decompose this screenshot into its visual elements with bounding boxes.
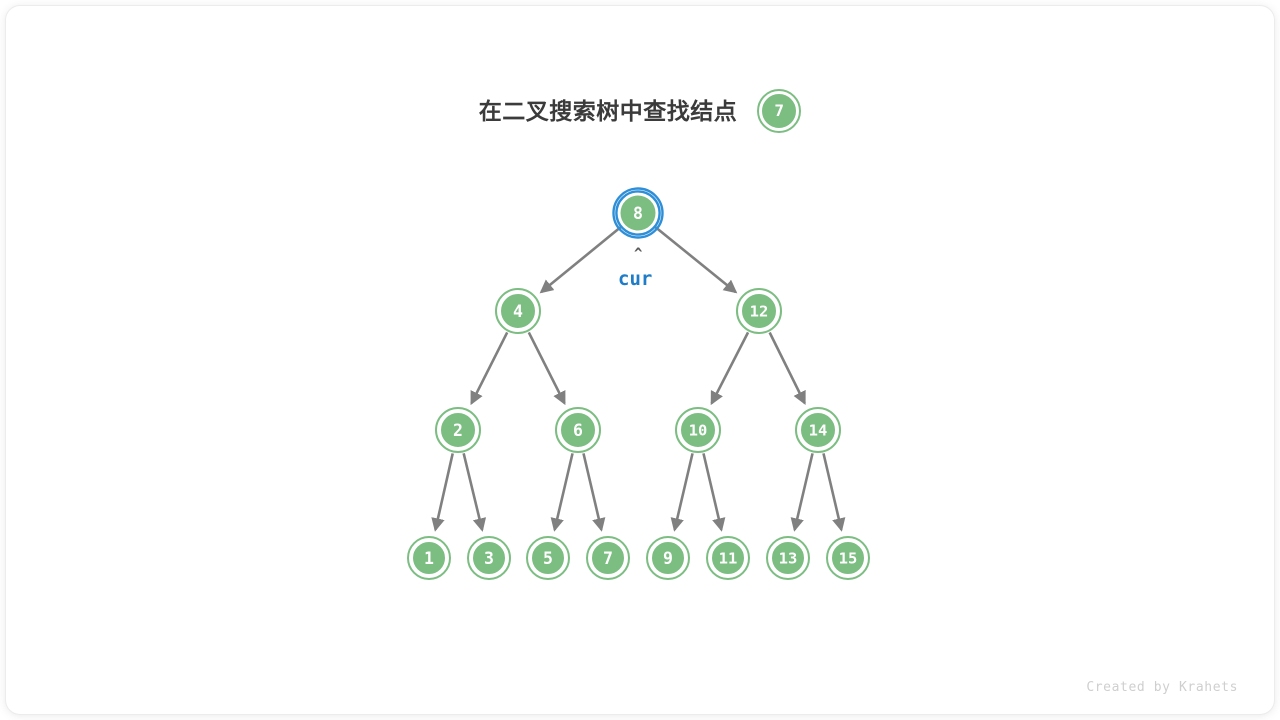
node-value-label: 5	[543, 549, 553, 568]
cur-pointer-label: cur	[618, 270, 652, 289]
tree-node-3[interactable]: 3	[468, 537, 510, 579]
tree-edge	[823, 453, 841, 529]
tree-node-5[interactable]: 5	[527, 537, 569, 579]
tree-node-12[interactable]: 12	[737, 289, 781, 333]
tree-edge	[472, 332, 508, 403]
tree-edge	[464, 453, 483, 529]
tree-node-8[interactable]: 8	[614, 189, 663, 238]
node-value-label: 3	[484, 549, 494, 568]
node-value-label: 13	[779, 550, 798, 568]
node-value-label: 2	[453, 421, 463, 440]
node-value-label: 15	[839, 550, 858, 568]
tree-edge	[703, 453, 721, 529]
tree-edge	[712, 332, 748, 403]
tree-edge	[795, 453, 813, 529]
tree-edge	[435, 453, 452, 529]
footer-credit: Created by Krahets	[1086, 681, 1238, 694]
tree-node-15[interactable]: 15	[827, 537, 869, 579]
node-value-label: 12	[750, 303, 769, 321]
node-value-label: 7	[603, 549, 613, 568]
tree-edge	[770, 333, 805, 404]
tree-edge	[541, 227, 621, 292]
tree-node-10[interactable]: 10	[676, 408, 720, 452]
tree-node-1[interactable]: 1	[408, 537, 450, 579]
tree-node-9[interactable]: 9	[647, 537, 689, 579]
node-value-label: 1	[424, 549, 434, 568]
tree-edge	[675, 453, 693, 529]
tree-edge	[655, 227, 736, 292]
node-value-label: 6	[573, 421, 583, 440]
tree-edge	[529, 332, 565, 403]
node-value-label: 4	[513, 302, 523, 321]
tree-edge	[555, 453, 573, 529]
diagram-content: 在二叉搜索树中查找结点 7 841226101413579111315 ^ cu…	[0, 0, 1280, 720]
tree-node-11[interactable]: 11	[707, 537, 749, 579]
node-value-label: 10	[689, 422, 708, 440]
node-value-label: 14	[809, 422, 828, 440]
node-value-label: 8	[633, 204, 643, 223]
tree-node-13[interactable]: 13	[767, 537, 809, 579]
tree-node-4[interactable]: 4	[496, 289, 540, 333]
tree-edge	[583, 453, 601, 529]
tree-node-14[interactable]: 14	[796, 408, 840, 452]
tree-node-2[interactable]: 2	[436, 408, 480, 452]
cur-pointer-caret-icon: ^	[634, 247, 642, 261]
node-value-label: 11	[719, 550, 738, 568]
node-value-label: 9	[663, 549, 673, 568]
binary-search-tree-diagram: 841226101413579111315	[0, 0, 1280, 720]
screenshot-stage: 在二叉搜索树中查找结点 7 841226101413579111315 ^ cu…	[0, 0, 1280, 720]
tree-node-6[interactable]: 6	[556, 408, 600, 452]
tree-node-7[interactable]: 7	[587, 537, 629, 579]
